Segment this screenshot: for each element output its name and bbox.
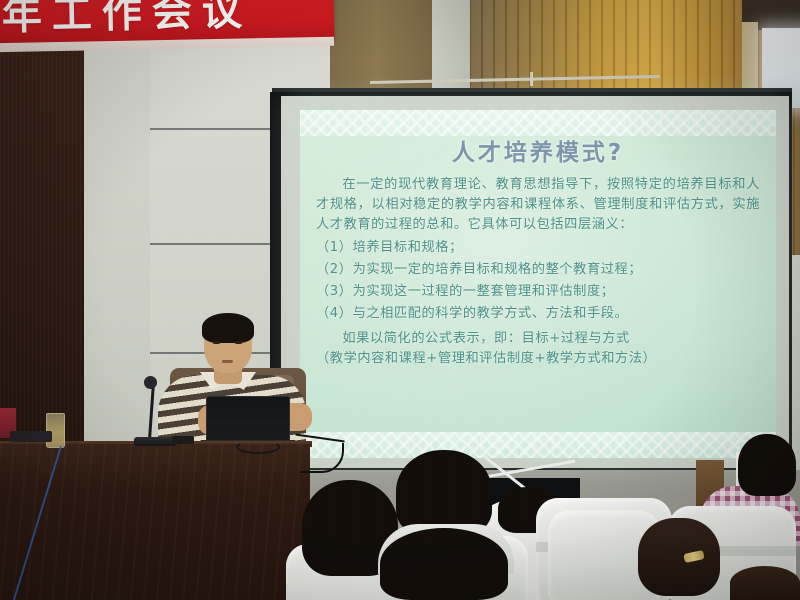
presenter-hair bbox=[202, 313, 254, 343]
slide-formula-line-1: 如果以简化的公式表示，即：目标+过程与方式 bbox=[316, 329, 760, 349]
desk-dark-object bbox=[10, 431, 52, 442]
slide-list-item-3: （3）为实现这一过程的一整套管理和评估制度； bbox=[316, 282, 760, 302]
coiled-cable bbox=[236, 440, 280, 454]
slide-title: 人才培养模式? bbox=[316, 140, 760, 168]
banner-text: 年工作会议 bbox=[1, 0, 252, 41]
slide-formula-line-2: （教学内容和课程+管理和评估制度+教学方式和方法） bbox=[316, 349, 760, 369]
presenter-desk bbox=[0, 444, 310, 600]
slide-paragraph-1: 在一定的现代教育理论、教育思想指导下，按照特定的培养目标和人才规格，以相对稳定的… bbox=[316, 175, 760, 235]
screen-support-post bbox=[530, 72, 533, 86]
slide-decorative-band-bottom bbox=[300, 432, 776, 458]
presenter-eye-right bbox=[235, 341, 242, 344]
presenter-mouth bbox=[222, 360, 233, 363]
audience-head-bottom-right bbox=[730, 566, 800, 600]
microphone-head bbox=[144, 376, 157, 389]
audience-head-center-front bbox=[380, 528, 508, 600]
slide-list-item-1: （1）培养目标和规格； bbox=[316, 238, 760, 258]
slide-list-item-4: （4）与之相匹配的科学的教学方式、方法和手段。 bbox=[316, 304, 760, 324]
presenter-eye-left bbox=[213, 341, 220, 344]
desk-phone-object bbox=[172, 436, 194, 444]
slide-list-item-2: （2）为实现一定的培养目标和规格的整个教育过程； bbox=[316, 260, 760, 280]
projected-slide: 人才培养模式? 在一定的现代教育理论、教育思想指导下，按照特定的培养目标和人才规… bbox=[300, 110, 776, 458]
conference-room-photo: 年工作会议 人才培养模式? 在一定的现代教育理论、教育思想指导下，按照特定的培养… bbox=[0, 0, 800, 600]
audience-head-plaid bbox=[738, 434, 796, 496]
dark-wood-wall-panel bbox=[0, 38, 84, 470]
laptop bbox=[206, 396, 290, 444]
slide-numbered-list: （1）培养目标和规格； （2）为实现一定的培养目标和规格的整个教育过程； （3）… bbox=[316, 238, 760, 324]
slide-body: 在一定的现代教育理论、教育思想指导下，按照特定的培养目标和人才规格，以相对稳定的… bbox=[316, 175, 760, 370]
microphone-base bbox=[134, 437, 176, 446]
audience-head-hairclip bbox=[638, 518, 720, 596]
